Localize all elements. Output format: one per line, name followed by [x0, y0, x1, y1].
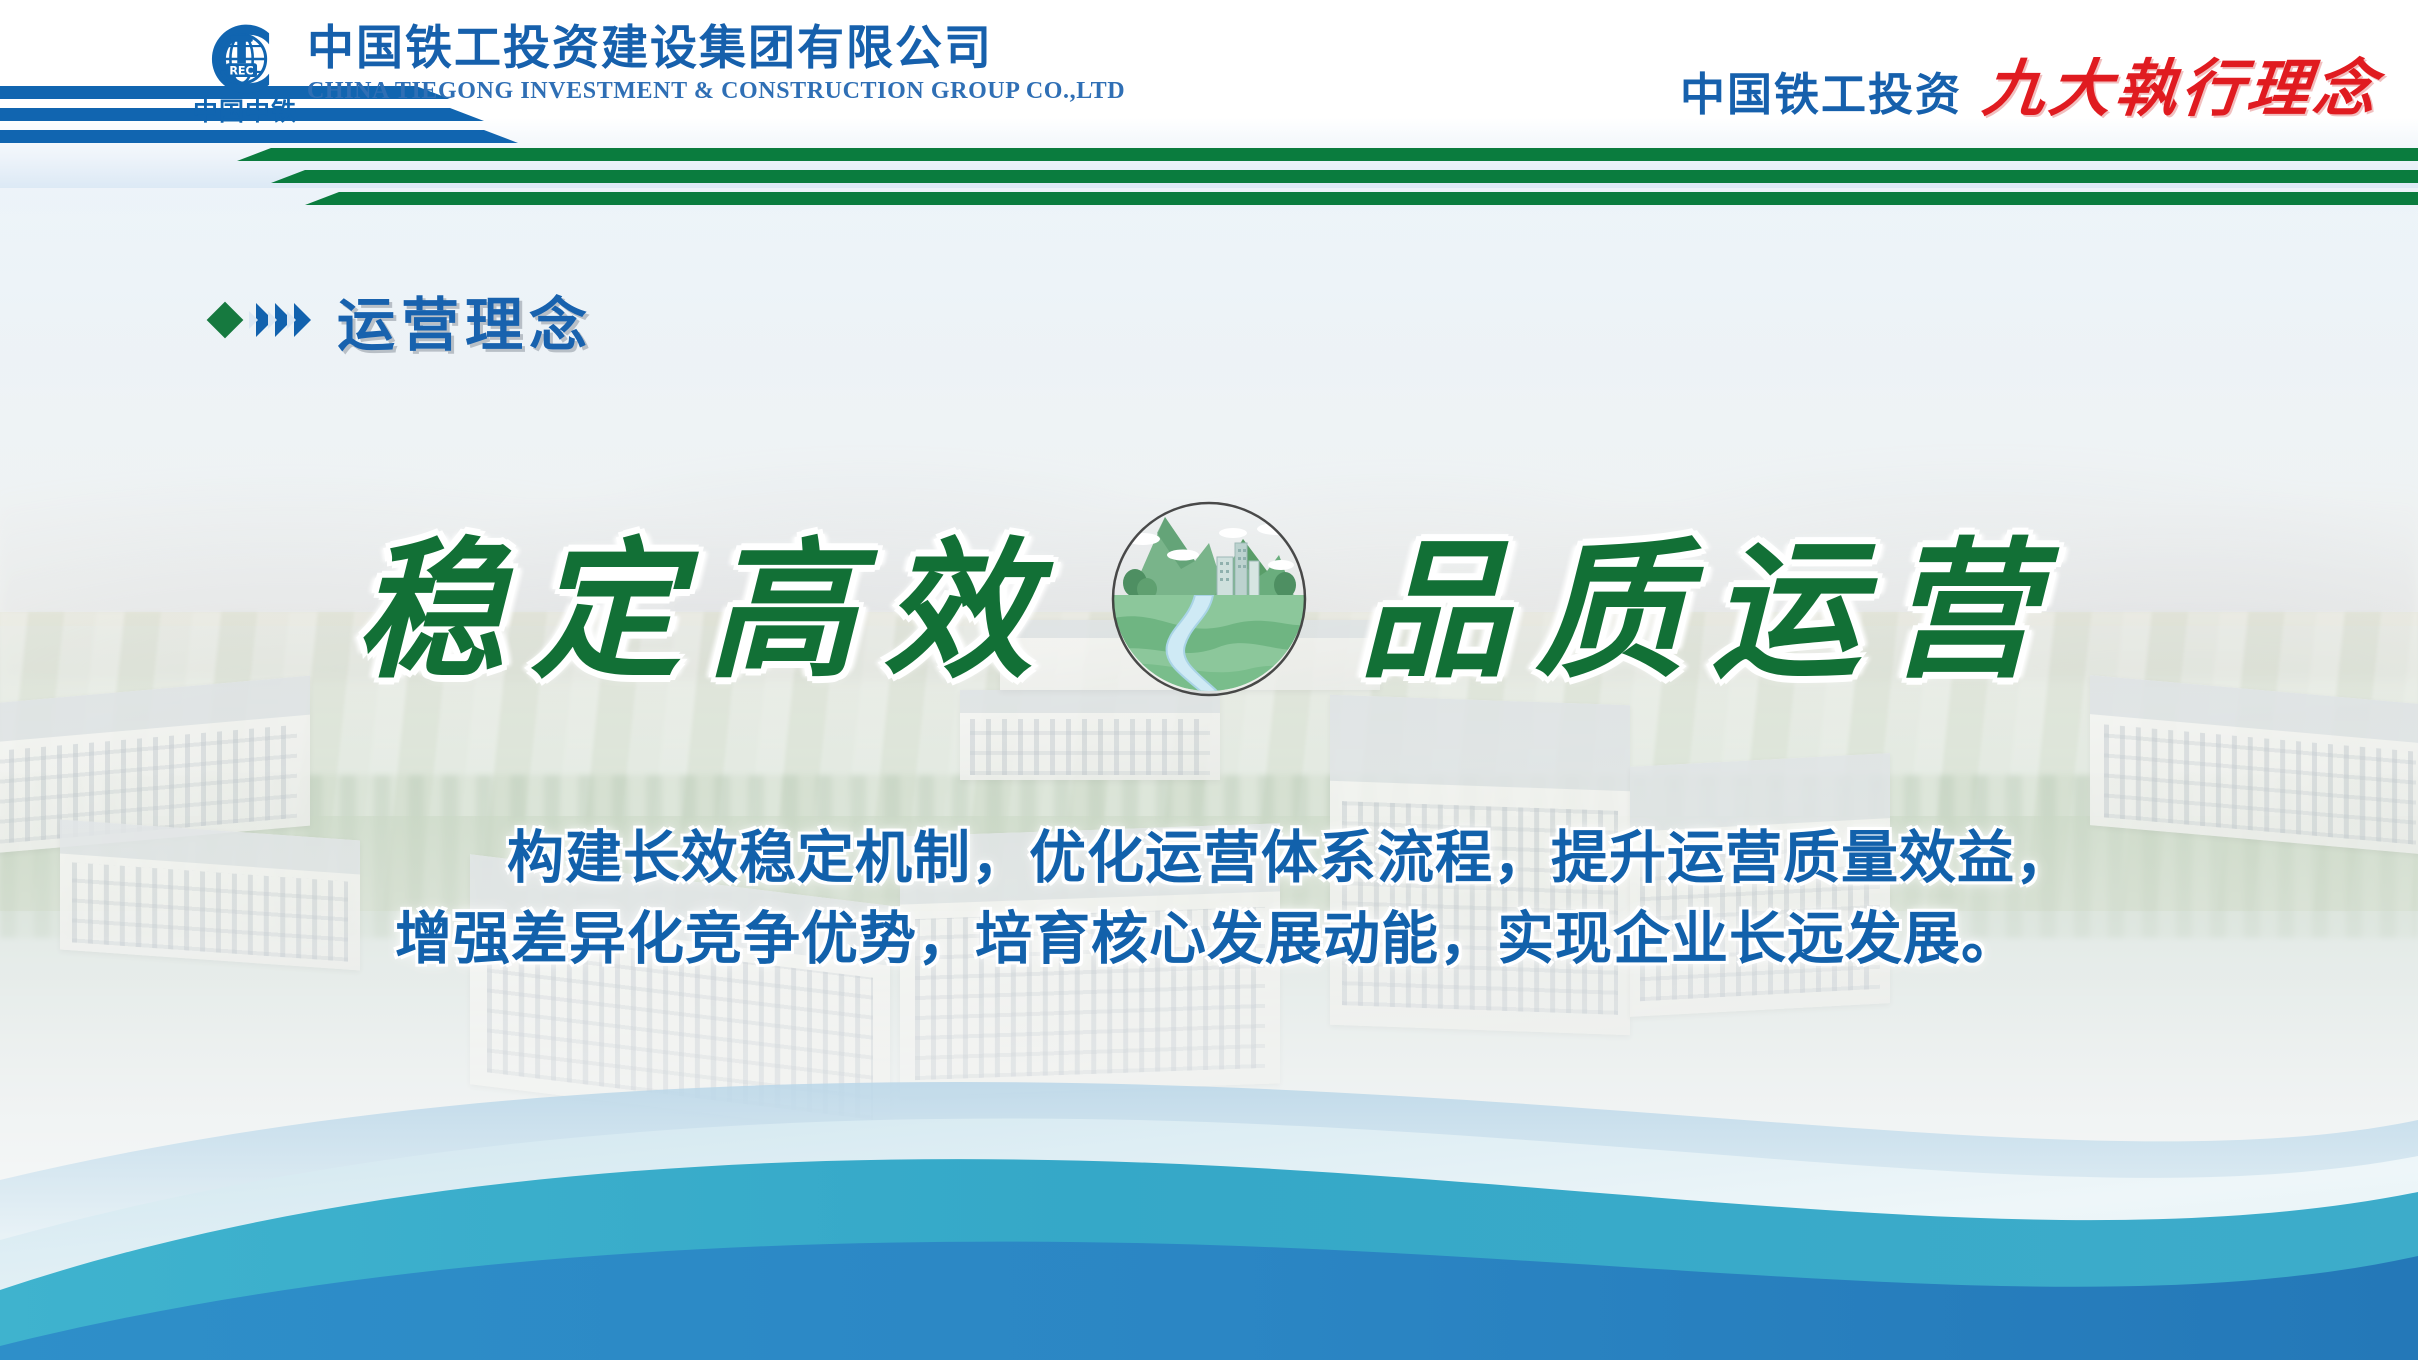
company-name-cn: 中国铁工投资建设集团有限公司: [307, 24, 1125, 73]
bottom-wave-decoration: [0, 1060, 2418, 1360]
page-header: REC 中国中铁 中国铁工投资建设集团有限公司 CHINA TIEGONG IN…: [0, 0, 2418, 185]
section-title: 运营理念: [212, 278, 593, 362]
eco-landscape-icon: [1109, 499, 1309, 699]
company-name-block: 中国铁工投资建设集团有限公司 CHINA TIEGONG INVESTMENT …: [307, 24, 1125, 105]
header-right-label: 中国铁工投资: [1680, 58, 1962, 123]
diamond-icon: [207, 302, 244, 339]
company-logo-block: REC 中国中铁 中国铁工投资建设集团有限公司 CHINA TIEGONG IN…: [193, 22, 1125, 124]
header-green-stripe: [271, 170, 2418, 183]
header-green-stripe: [237, 148, 2418, 161]
body-paragraph: 构建长效稳定机制，优化运营体系流程，提升运营质量效益，增强差异化竞争优势，培育核…: [395, 818, 2085, 980]
slogan-right: 品质运营: [1359, 490, 2063, 707]
slogan-row: 稳定高效: [0, 490, 2418, 707]
svg-text:REC: REC: [229, 64, 253, 77]
crec-globe-rail-emblem: REC: [202, 22, 288, 96]
chevron-right-icon: [294, 303, 311, 337]
crec-logo: REC 中国中铁: [193, 22, 297, 124]
slide-canvas: REC 中国中铁 中国铁工投资建设集团有限公司 CHINA TIEGONG IN…: [0, 0, 2418, 1360]
company-name-en: CHINA TIEGONG INVESTMENT & CONSTRUCTION …: [307, 78, 1125, 105]
chevrons-icon: [256, 303, 311, 337]
crec-logo-caption: 中国中铁: [193, 99, 297, 124]
header-green-stripe: [305, 192, 2418, 205]
header-blue-stripe: [0, 130, 518, 143]
slogan-left: 稳定高效: [355, 490, 1059, 707]
section-title-text: 运营理念: [337, 278, 593, 362]
header-right-block: 中国铁工投资 九大執行理念: [1680, 38, 2380, 128]
header-right-red-label: 九大執行理念: [1979, 38, 2384, 128]
